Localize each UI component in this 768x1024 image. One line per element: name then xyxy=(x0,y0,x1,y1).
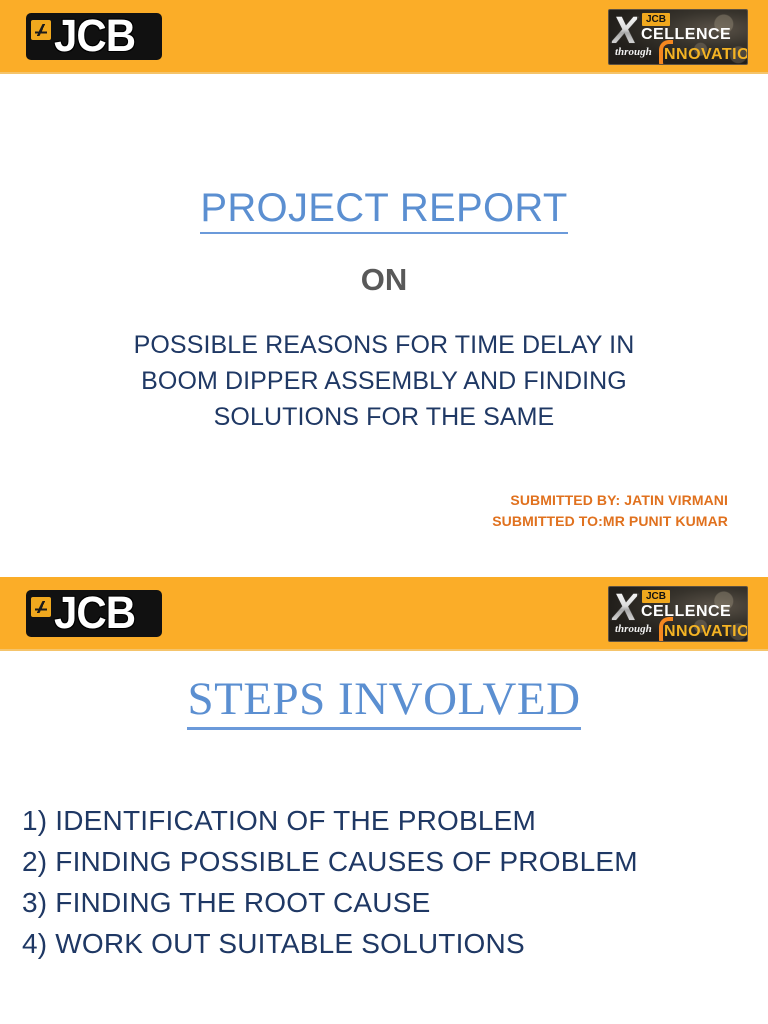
xcellence-innovation-text: NNOVATION xyxy=(664,46,748,63)
xcellence-innovation-text: NNOVATION xyxy=(664,623,748,640)
xcellence-through-innovation-logo: X JCB CELLENCE through NNOVATION xyxy=(608,9,748,65)
list-item: 2) FINDING POSSIBLE CAUSES OF PROBLEM xyxy=(22,841,742,882)
xcellence-cellence-text: CELLENCE xyxy=(641,26,731,43)
list-item: 1) IDENTIFICATION OF THE PROBLEM xyxy=(22,800,742,841)
jcb-logo: JCB xyxy=(26,590,162,637)
xcellence-x-letter: X xyxy=(612,12,637,50)
jcb-logo-letters: JCB xyxy=(54,591,135,634)
submitted-to-line: SUBMITTED TO:MR PUNIT KUMAR xyxy=(328,511,728,532)
slide-title-page: JCB X JCB CELLENCE through NNOVATION PRO… xyxy=(0,0,768,576)
steps-list: 1) IDENTIFICATION OF THE PROBLEM 2) FIND… xyxy=(22,800,742,964)
jcb-logo: JCB xyxy=(26,13,162,60)
title-connector: ON xyxy=(0,262,768,298)
jcb-excavator-mark-icon xyxy=(31,597,51,617)
jcb-excavator-mark-icon xyxy=(31,20,51,40)
slide1-header-band-underline xyxy=(0,72,768,74)
slide2-header-band-underline xyxy=(0,649,768,651)
xcellence-through-innovation-logo: X JCB CELLENCE through NNOVATION xyxy=(608,586,748,642)
steps-title: STEPS INVOLVED xyxy=(0,672,768,730)
steps-title-text: STEPS INVOLVED xyxy=(187,672,580,730)
page-title: PROJECT REPORT xyxy=(0,186,768,234)
xcellence-x-letter: X xyxy=(612,589,637,627)
list-item: 3) FINDING THE ROOT CAUSE xyxy=(22,882,742,923)
xcellence-jcb-chip: JCB xyxy=(642,590,670,603)
jcb-logo-letters: JCB xyxy=(54,14,135,57)
page-subtitle: POSSIBLE REASONS FOR TIME DELAY IN BOOM … xyxy=(114,327,654,435)
list-item: 4) WORK OUT SUITABLE SOLUTIONS xyxy=(22,923,742,964)
xcellence-jcb-chip: JCB xyxy=(642,13,670,26)
xcellence-through-text: through xyxy=(615,623,652,635)
xcellence-through-text: through xyxy=(615,46,652,58)
submitted-by-line: SUBMITTED BY: JATIN VIRMANI xyxy=(328,490,728,511)
xcellence-cellence-text: CELLENCE xyxy=(641,603,731,620)
page-title-text: PROJECT REPORT xyxy=(200,186,567,234)
submission-credits: SUBMITTED BY: JATIN VIRMANI SUBMITTED TO… xyxy=(328,490,728,532)
